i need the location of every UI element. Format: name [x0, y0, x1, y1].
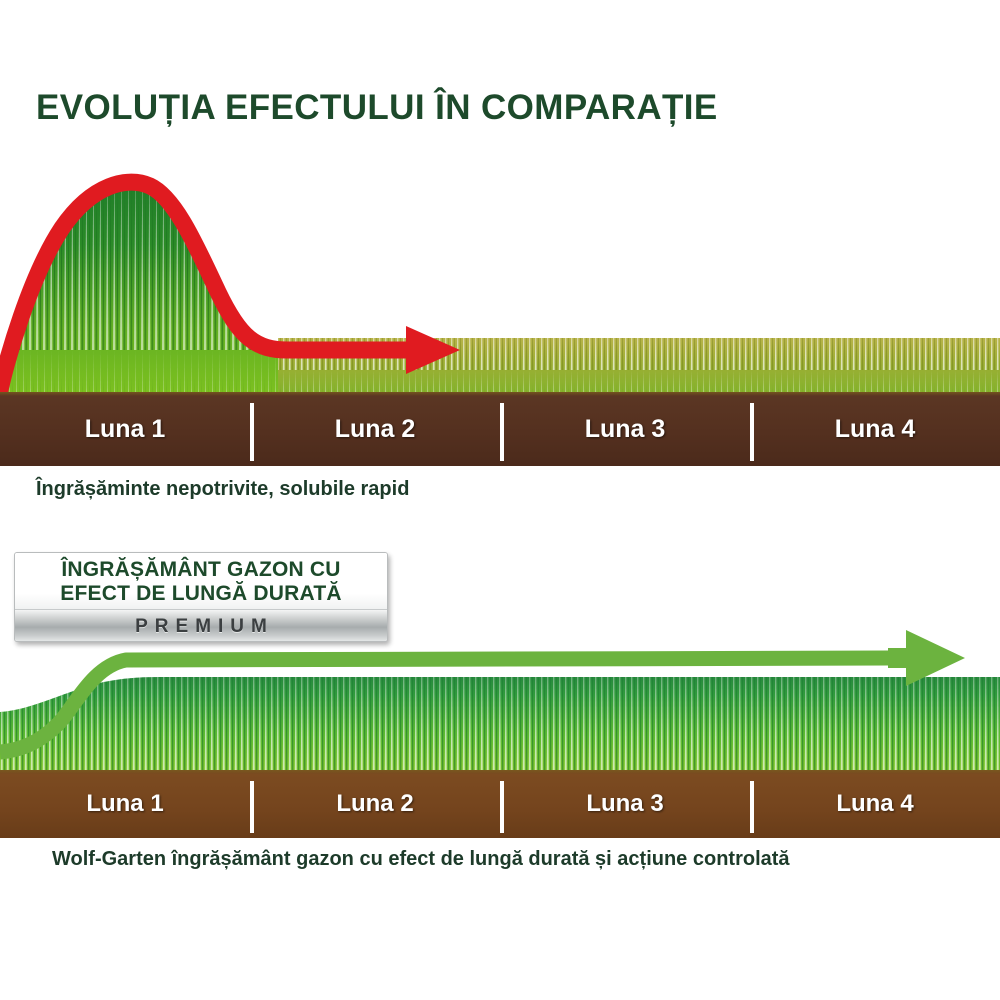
month-cell-2: Luna 2 [250, 392, 500, 466]
badge-line-2: EFECT DE LUNGĂ DURATĂ [60, 582, 341, 606]
month-cell-1: Luna 1 [0, 392, 250, 466]
page-title: EVOLUȚIA EFECTULUI ÎN COMPARAȚIE [36, 88, 718, 128]
infographic-canvas: EVOLUȚIA EFECTULUI ÎN COMPARAȚIE [0, 0, 1000, 1000]
badge-line-1: ÎNGRĂȘĂMÂNT GAZON CU [61, 558, 340, 582]
month-axis-bad: Luna 1 Luna 2 Luna 3 Luna 4 [0, 392, 1000, 466]
caption-bad-fertiliser: Îngrășăminte nepotrivite, solubile rapid [36, 478, 409, 501]
month-cell-2: Luna 2 [250, 770, 500, 838]
grass-field-good [0, 660, 1000, 775]
month-axis-good: Luna 1 Luna 2 Luna 3 Luna 4 [0, 770, 1000, 838]
month-cell-3: Luna 3 [500, 392, 750, 466]
month-cell-4: Luna 4 [750, 392, 1000, 466]
month-cell-3: Luna 3 [500, 770, 750, 838]
month-cell-4: Luna 4 [750, 770, 1000, 838]
month-cell-1: Luna 1 [0, 770, 250, 838]
badge-title-area: ÎNGRĂȘĂMÂNT GAZON CU EFECT DE LUNGĂ DURA… [15, 553, 387, 609]
caption-long-term-fertiliser: Wolf-Garten îngrășământ gazon cu efect d… [52, 848, 790, 871]
